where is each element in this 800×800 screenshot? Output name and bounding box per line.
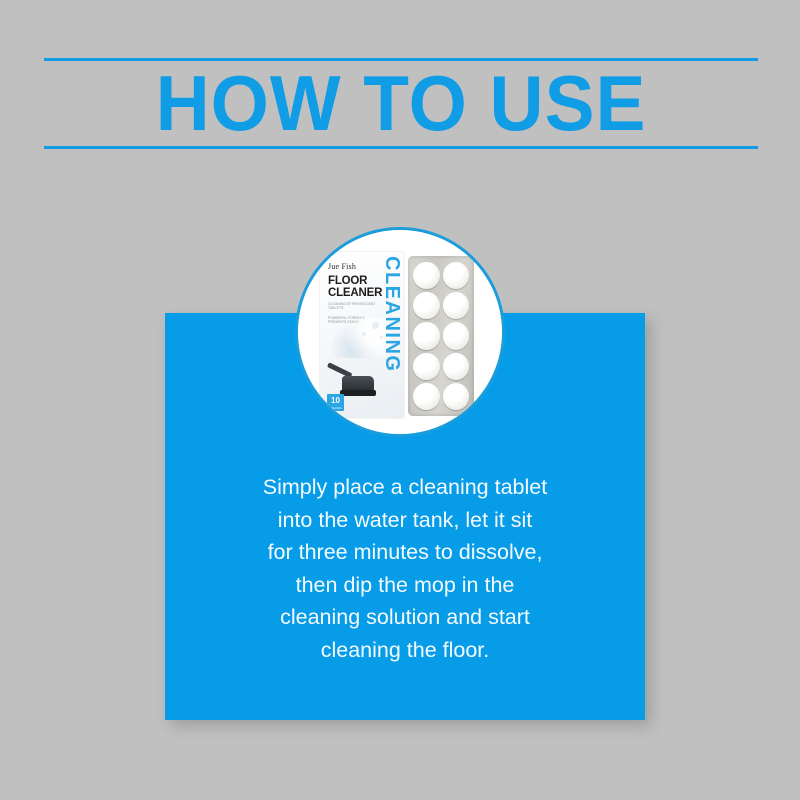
header-rule-bottom: [44, 146, 758, 149]
instruction-line: Simply place a cleaning tablet: [179, 471, 631, 504]
product-brand: Jue Fish: [328, 262, 356, 271]
tablet: [413, 383, 440, 410]
mop-plate: [340, 390, 376, 396]
product-title-line1: FLOOR: [328, 276, 382, 288]
splash-droplet: [372, 322, 379, 329]
tablet: [443, 292, 470, 319]
quantity-badge-number: 10: [327, 394, 344, 406]
tablet: [443, 262, 470, 289]
product-title: FLOOR CLEANER: [328, 276, 382, 299]
tablet: [413, 353, 440, 380]
quantity-badge-label: PIECES: [327, 406, 344, 410]
quantity-badge: 10 PIECES: [327, 394, 344, 411]
how-to-use-poster: HOW TO USE Simply place a cleaning table…: [0, 0, 800, 800]
splash-droplet: [362, 332, 366, 336]
product-photo: Jue Fish FLOOR CLEANER CLEANING EFFERVES…: [298, 230, 502, 434]
tablet: [413, 262, 440, 289]
tablet: [413, 292, 440, 319]
tablet: [443, 322, 470, 349]
header: HOW TO USE: [44, 52, 758, 152]
tablet: [443, 353, 470, 380]
instruction-line: then dip the mop in the: [179, 569, 631, 602]
product-title-line2: CLEANER: [328, 288, 382, 300]
instruction-line: cleaning the floor.: [179, 634, 631, 667]
vertical-cleaning-label: CLEANING: [379, 256, 404, 416]
tablet: [443, 383, 470, 410]
instruction-line: into the water tank, let it sit: [179, 504, 631, 537]
instruction-line: for three minutes to dissolve,: [179, 536, 631, 569]
instruction-line: cleaning solution and start: [179, 601, 631, 634]
product-box: Jue Fish FLOOR CLEANER CLEANING EFFERVES…: [320, 252, 404, 418]
product-subtitle: CLEANING EFFERVESCENT TABLETS: [328, 302, 380, 311]
product-photo-circle: Jue Fish FLOOR CLEANER CLEANING EFFERVES…: [295, 227, 505, 437]
tablet: [413, 322, 440, 349]
page-title: HOW TO USE: [58, 66, 743, 140]
instruction-text: Simply place a cleaning tablet into the …: [165, 471, 645, 666]
blister-pack: [408, 256, 474, 416]
